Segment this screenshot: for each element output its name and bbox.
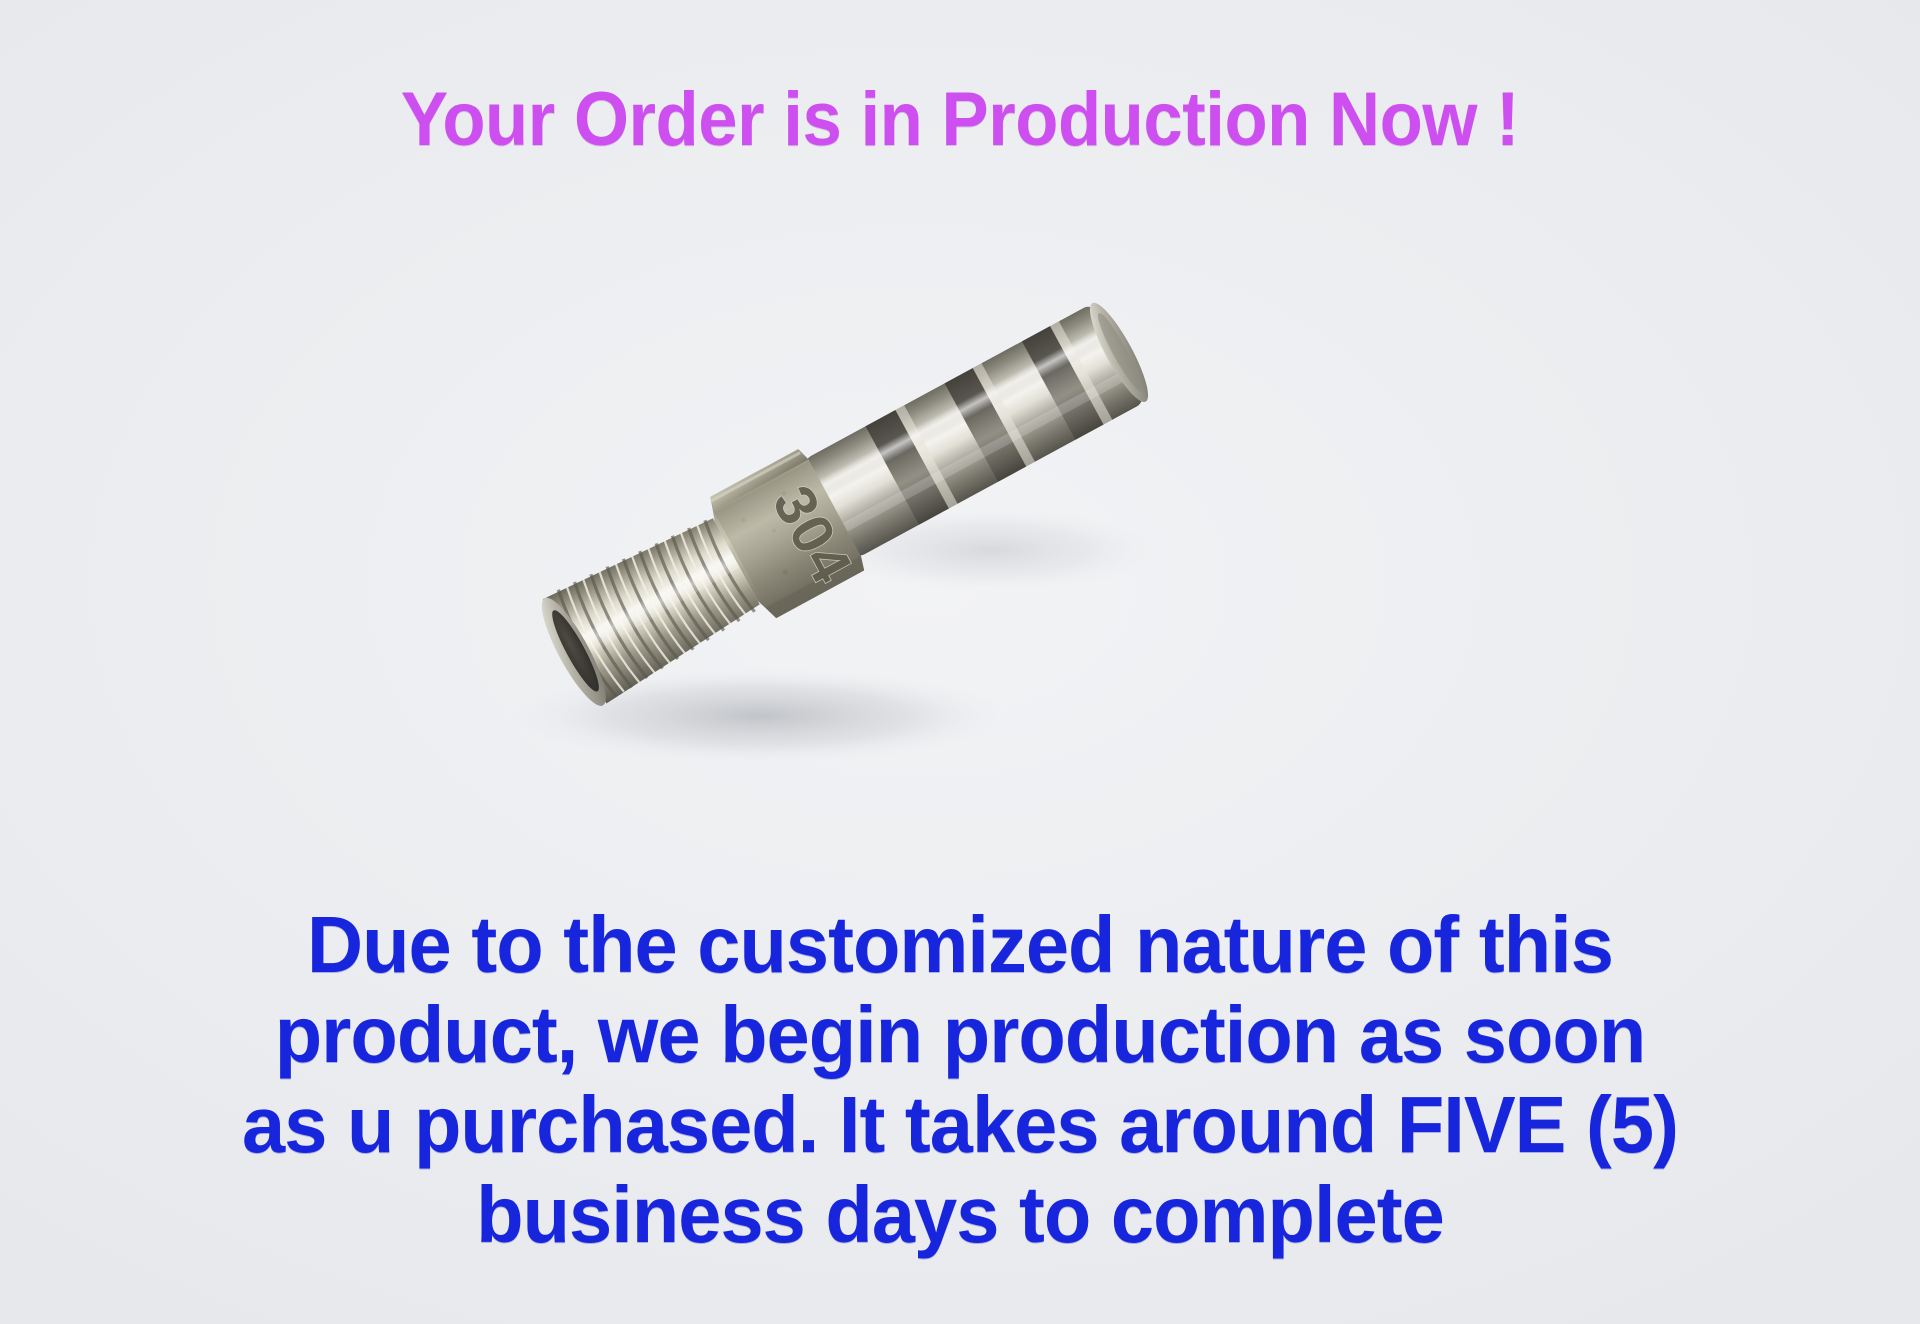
page-title: Your Order is in Production Now ! <box>67 78 1853 162</box>
message-line-3: as u purchased. It takes around FIVE (5) <box>165 1080 1756 1170</box>
production-lead-time-message: Due to the customized nature of this pro… <box>140 900 1780 1260</box>
message-line-4: business days to complete <box>165 1170 1756 1260</box>
message-line-1: Due to the customized nature of this <box>165 900 1756 990</box>
message-line-2: product, we begin production as soon <box>165 990 1756 1080</box>
production-notice-poster: Your Order is in Production Now ! <box>0 0 1920 1324</box>
product-photo: 304 <box>430 250 1190 770</box>
